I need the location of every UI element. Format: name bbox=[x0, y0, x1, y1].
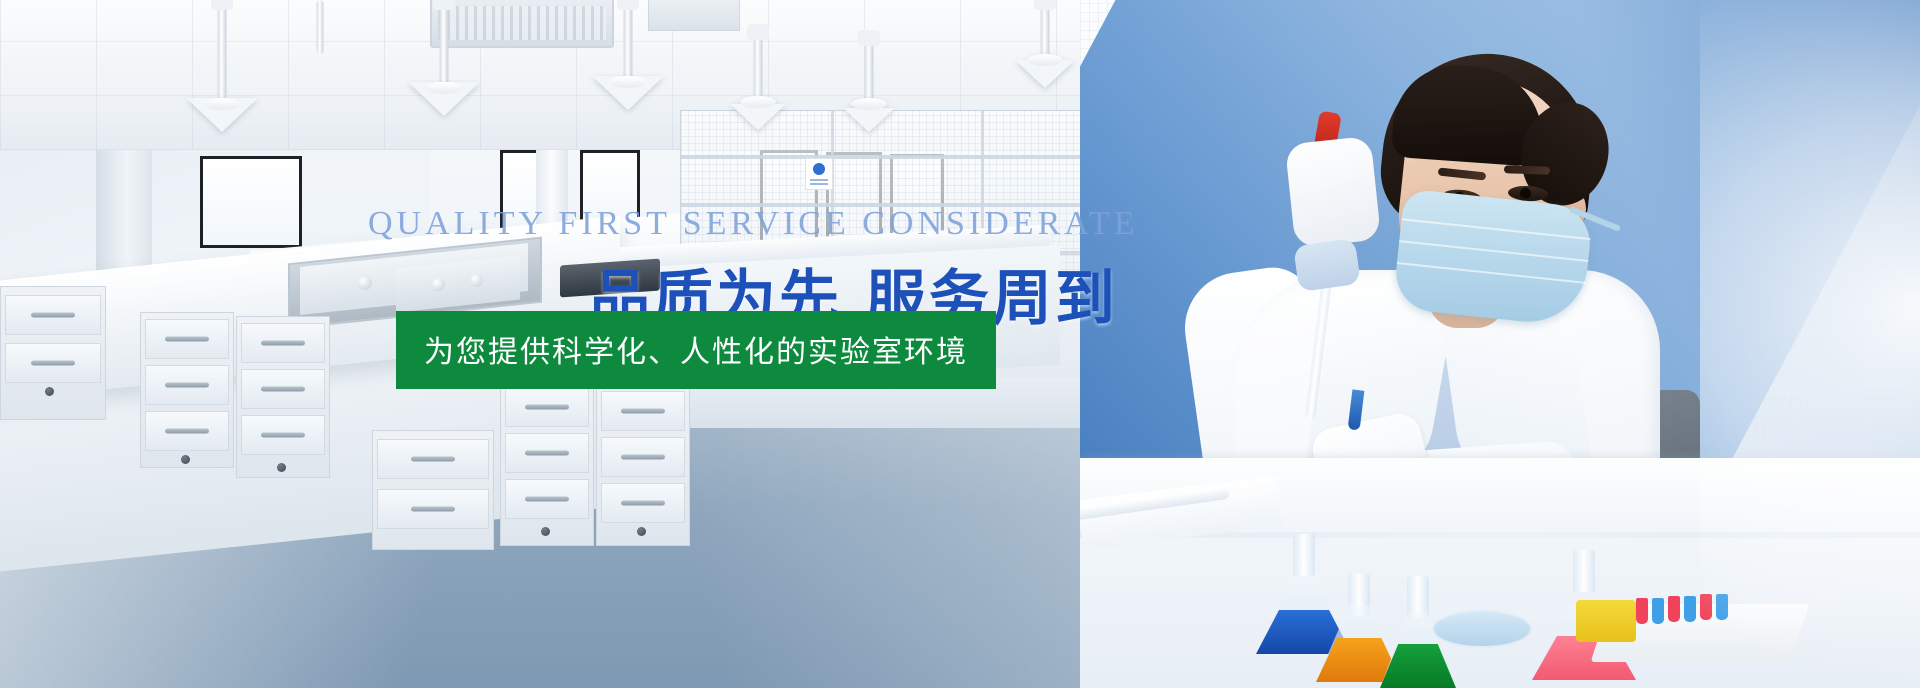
banner-copy: QUALITY FIRST SERVICE CONSIDERATE 品质为先 服… bbox=[0, 0, 1920, 688]
banner-subtitle-text: 为您提供科学化、人性化的实验室环境 bbox=[424, 335, 968, 370]
banner-subtitle-bar: 为您提供科学化、人性化的实验室环境 bbox=[396, 311, 996, 389]
hero-banner: QUALITY FIRST SERVICE CONSIDERATE 品质为先 服… bbox=[0, 0, 1920, 688]
banner-eyebrow-english: QUALITY FIRST SERVICE CONSIDERATE bbox=[368, 205, 1139, 243]
